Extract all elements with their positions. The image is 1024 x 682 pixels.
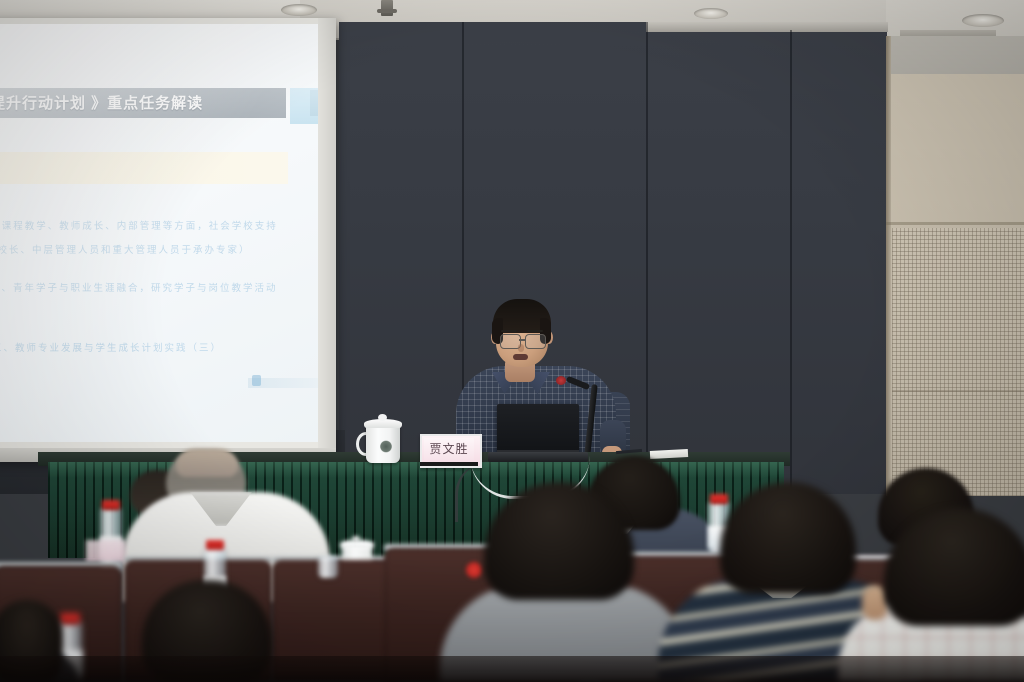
perforated-panel-seam [892,390,1024,392]
water-bottle [318,556,338,578]
teacup-lid-knob [378,414,387,421]
speaker-nose [518,344,524,352]
teacup-logo-icon [380,440,392,453]
speaker-nameplate-text: 贾文胜 [424,440,474,458]
laptop-screen [497,404,579,456]
water-bottle-cap [102,500,120,510]
wall-panel-seam [646,22,648,492]
screen-glare [0,24,324,442]
speaker-glasses-lens-right [525,334,546,349]
perforated-acoustic-panel [892,228,1024,496]
audience-bald-top [176,449,238,477]
wall-tan-seam [886,222,1024,225]
speaker-mouth [513,354,528,360]
wall-soffit-step [646,22,888,32]
speaker-nameplate-stand [420,462,478,466]
foreground-chair-row [0,656,1024,682]
pink-card-left [86,540,126,562]
screen-right-edge [318,18,336,462]
wall-tan-top-band [886,36,1024,74]
chair-seat-number-badge [466,562,482,578]
water-bottle-cap [60,613,80,624]
conference-room-photo: 提升行动计划 》重点任务解读 · 课程教学、教师成长、内部管理等方面，社会学校支… [0,0,1024,682]
water-bottle-cap [206,540,224,550]
water-bottle-cap [710,494,728,504]
wall-tan-edge-trim [886,36,891,496]
audience-teacup-knob [352,536,360,542]
speaker-glasses-bridge [519,339,525,341]
ceiling-sprinkler-icon [381,0,393,16]
microphone-head-icon [556,376,566,385]
ceiling-downlight-icon [962,14,1004,27]
wall-panel-seam [790,30,792,492]
ceiling-downlight-icon [281,4,317,16]
ceiling-downlight-icon [694,8,728,19]
